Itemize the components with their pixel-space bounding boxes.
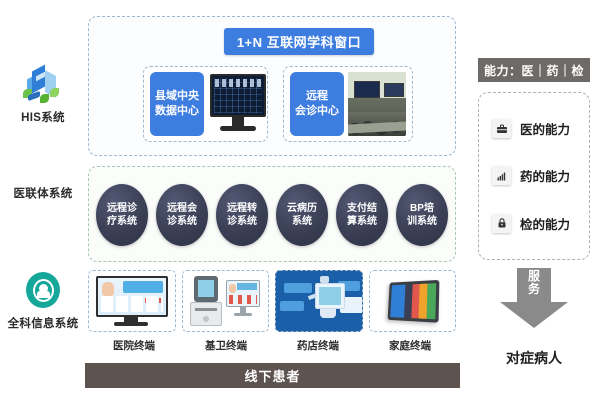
terminal-label: 医院终端: [88, 338, 180, 354]
tile-line-1: 县域中央: [155, 89, 199, 104]
circle-line-2: 疗系统: [107, 215, 137, 229]
circle-line-2: 系统: [292, 215, 312, 229]
tv-health-terminal-image: [96, 276, 168, 326]
capability-label: 药的能力: [520, 166, 570, 185]
terminal-label: 药店终端: [272, 338, 364, 354]
terminal-label: 家庭终端: [364, 338, 456, 354]
consultation-center-tile[interactable]: 远程 会诊中心: [290, 72, 344, 136]
circle-line-1: 远程会: [167, 202, 197, 216]
terminal-label: 基卫终端: [180, 338, 272, 354]
terminal-row: [88, 270, 456, 332]
rail-item-label: 医联体系统: [0, 185, 86, 201]
circle-line-1: 远程诊: [107, 202, 137, 216]
bar-chart-icon: [492, 166, 511, 185]
rail-item-label: HIS系统: [0, 109, 86, 125]
lock-icon: [492, 214, 511, 233]
system-circle[interactable]: 支付结 算系统: [336, 184, 388, 246]
capability-label: 医的能力: [520, 119, 570, 138]
rail-item-label: 全科信息系统: [0, 315, 86, 331]
circle-line-2: 诊系统: [227, 215, 257, 229]
left-rail: HIS系统 医联体系统 全科信息系统: [0, 0, 86, 400]
tile-line-2: 数据中心: [155, 104, 199, 119]
briefcase-icon: [492, 119, 511, 138]
circle-line-2: 诊系统: [167, 215, 197, 229]
tile-line-2: 会诊中心: [295, 104, 339, 119]
circle-line-2: 算系统: [347, 215, 377, 229]
his-group-data-center: 县域中央 数据中心: [143, 66, 268, 142]
capability-header: 能力：医｜药｜检: [478, 58, 590, 82]
capability-item-medical[interactable]: 医的能力: [479, 119, 589, 138]
internet-discipline-banner: 1+N 互联网学科窗口: [224, 28, 374, 55]
capability-panel: 医的能力 药的能力 检的能力: [478, 92, 590, 260]
terminal-primary-care[interactable]: [182, 270, 270, 332]
capability-label: 检的能力: [520, 214, 570, 233]
conference-room-photo: [348, 72, 406, 136]
terminal-label-row: 医院终端 基卫终端 药店终端 家庭终端: [88, 338, 456, 354]
system-circle[interactable]: 远程转 诊系统: [216, 184, 268, 246]
terminal-hospital[interactable]: [88, 270, 176, 332]
rail-item-his[interactable]: HIS系统: [0, 62, 86, 125]
arrow-line-2: 务: [500, 283, 568, 296]
system-circle[interactable]: 远程诊 疗系统: [96, 184, 148, 246]
rail-item-union[interactable]: 医联体系统: [0, 185, 86, 201]
target-patients-label: 对症病人: [478, 348, 590, 368]
service-arrow: 服 务: [500, 268, 568, 330]
circle-line-1: BP培: [410, 202, 434, 216]
tile-line-1: 远程: [306, 89, 328, 104]
diagram-canvas: HIS系统 医联体系统 全科信息系统 1+N 互联网学科窗口 县域中央 数据中心…: [0, 0, 600, 400]
union-system-circles: 远程诊 疗系统 远程会 诊系统 远程转 诊系统 云病历 系统 支付结 算系统 B…: [96, 176, 448, 254]
system-circle[interactable]: BP培 训系统: [396, 184, 448, 246]
people-circle-icon: [0, 268, 86, 312]
pharmacy-blue-scene-image: [276, 271, 362, 331]
terminal-pharmacy[interactable]: [275, 270, 363, 332]
building-icon: [0, 62, 86, 106]
terminal-home[interactable]: [369, 270, 457, 332]
circle-line-2: 训系统: [407, 215, 437, 229]
circle-line-1: 支付结: [347, 202, 377, 216]
circle-line-1: 云病历: [287, 202, 317, 216]
capability-item-pharmacy[interactable]: 药的能力: [479, 166, 589, 185]
data-center-tile[interactable]: 县域中央 数据中心: [150, 72, 204, 136]
his-group-consultation-center: 远程 会诊中心: [283, 66, 413, 142]
tablet-device-image: [388, 280, 440, 323]
system-circle[interactable]: 远程会 诊系统: [156, 184, 208, 246]
offline-patients-bar: 线下患者: [85, 363, 460, 388]
circle-line-1: 远程转: [227, 202, 257, 216]
kiosk-and-monitor-image: [190, 276, 260, 326]
capability-item-inspection[interactable]: 检的能力: [479, 214, 589, 233]
monitor-image: [208, 72, 261, 136]
rail-item-gp[interactable]: 全科信息系统: [0, 268, 86, 331]
system-circle[interactable]: 云病历 系统: [276, 184, 328, 246]
